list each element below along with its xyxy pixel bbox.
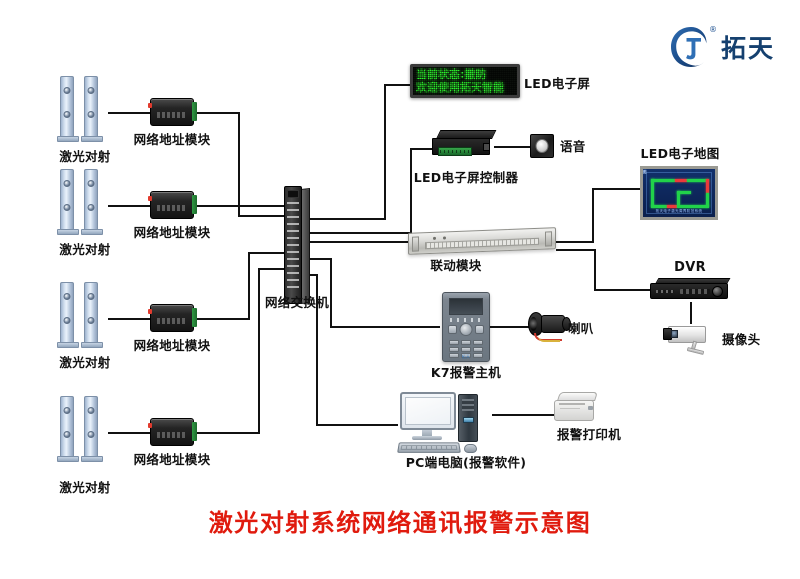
wire-laser1-module — [108, 112, 150, 114]
pc-mouse[interactable] — [464, 444, 477, 453]
dvr-indicator-leds — [656, 290, 674, 293]
laser-lens-icon — [64, 317, 71, 324]
power-led-icon — [148, 309, 152, 314]
laser-base — [81, 229, 103, 235]
network-switch — [284, 186, 310, 304]
map-segment — [677, 191, 691, 194]
wire-bus1-vertical — [238, 112, 240, 216]
network-address-module-3-label: 网络地址模块 — [134, 339, 211, 353]
laser-detector-3-label: 激光对射 — [59, 356, 110, 370]
alarm-host-leds — [450, 318, 482, 322]
laser-post-right — [84, 76, 98, 138]
registered-mark: ® — [709, 25, 717, 34]
wire-switch-ledctrl-v — [410, 148, 412, 234]
alarm-host-softkey-left[interactable] — [448, 325, 457, 334]
camera-label: 摄像头 — [722, 333, 760, 347]
alarm-host-label: K7报警主机 — [431, 366, 501, 380]
wire-dvr-camera — [690, 302, 692, 324]
laser-base — [81, 136, 103, 142]
map-segment — [651, 179, 654, 207]
rack-ear-left — [412, 236, 419, 251]
alarm-host-device: 拓天 — [442, 292, 490, 362]
camera-mount-base — [687, 347, 704, 355]
wire-ledctrl-voice — [494, 146, 532, 148]
wire-pc-printer — [492, 414, 554, 416]
keypad-key[interactable] — [461, 347, 471, 352]
laser-post-left — [60, 282, 74, 344]
rack-ear-right — [545, 231, 552, 246]
wire-dvr-v — [594, 249, 596, 291]
power-led-icon — [148, 423, 152, 428]
alarm-printer-label: 报警打印机 — [557, 428, 621, 442]
led-display-panel: 当前状态:撤防 欢迎使用拓天智能 — [410, 64, 520, 98]
laser-lens-icon — [64, 431, 71, 438]
wire-bus4-vertical — [258, 268, 260, 432]
diagram-title: 激光对射系统网络通讯报警示意图 — [209, 503, 592, 538]
wire-bus3-vertical — [248, 252, 250, 318]
pc-front-panel — [463, 417, 474, 423]
dvr-buttons — [680, 289, 710, 294]
dvr-jog-dial — [712, 286, 723, 297]
laser-detector-2 — [58, 169, 112, 241]
wire-linkage-right2 — [556, 249, 596, 251]
led-display-label: LED电子屏 — [524, 77, 590, 91]
module-print — [157, 318, 186, 324]
brand-logo: ® 拓天 — [668, 24, 775, 70]
led-display-line-2: 欢迎使用拓天智能 — [416, 81, 514, 94]
network-switch-label: 网络交换机 — [265, 296, 329, 310]
brand-emblem-icon: ® — [668, 24, 714, 70]
wire-ledmap-h — [592, 188, 640, 190]
dvr-label: DVR — [674, 261, 706, 276]
wire-switch-ledscreen-h2 — [384, 84, 412, 86]
power-led-icon — [148, 103, 152, 108]
laser-base — [81, 342, 103, 348]
laser-lens-icon — [88, 293, 95, 300]
network-address-module-4 — [150, 418, 194, 446]
alarm-printer — [554, 392, 598, 424]
keypad-key[interactable] — [473, 347, 483, 352]
pc-monitor — [400, 392, 456, 430]
wire-switch-ledctrl-h2 — [410, 148, 434, 150]
pc-monitor-base — [412, 436, 442, 440]
wire-switch-k7-h2 — [330, 326, 440, 328]
printer-seam — [560, 408, 580, 409]
map-segment — [651, 179, 675, 182]
map-segment-alarm — [706, 179, 709, 193]
printer-feed-button[interactable] — [588, 406, 593, 410]
laser-lens-icon — [88, 317, 95, 324]
keypad-key[interactable] — [461, 340, 471, 345]
wire-dvr-h — [594, 289, 650, 291]
led-controller — [432, 130, 494, 160]
controller-terminal-block — [438, 147, 472, 156]
linkage-module-label: 联动模块 — [430, 259, 481, 273]
horn-label: 喇叭 — [568, 322, 594, 336]
keypad-key[interactable] — [473, 340, 483, 345]
led-map-panel: 地图 拓天电子激光周界防范系统 — [640, 166, 718, 220]
camera-device — [662, 322, 720, 356]
voice-module-label: 语音 — [560, 140, 586, 154]
status-dot — [443, 236, 446, 239]
map-segment — [651, 205, 667, 208]
laser-detector-2-label: 激光对射 — [59, 243, 110, 257]
laser-detector-1 — [58, 76, 112, 148]
alarm-host-nav-area — [443, 323, 489, 338]
pc-screen[interactable] — [405, 397, 451, 425]
wire-module1-bus — [194, 112, 240, 114]
network-address-module-2 — [150, 191, 194, 219]
laser-base — [57, 342, 79, 348]
power-led-icon — [148, 196, 152, 201]
laser-lens-icon — [64, 293, 71, 300]
wire-module3-bus — [194, 318, 250, 320]
laser-detector-4 — [58, 396, 112, 468]
laser-base — [57, 136, 79, 142]
module-print — [157, 205, 186, 211]
wire-ledmap-v — [592, 188, 594, 243]
wire-switch-linkage — [306, 241, 408, 243]
pc-drive-bays — [462, 399, 474, 411]
network-address-module-3 — [150, 304, 194, 332]
laser-lens-icon — [88, 431, 95, 438]
alarm-host-screen — [449, 298, 483, 315]
laser-lens-icon — [64, 407, 71, 414]
switch-uplink-port — [287, 190, 299, 198]
laser-detector-3 — [58, 282, 112, 354]
led-controller-label: LED电子屏控制器 — [414, 171, 519, 185]
laser-post-left — [60, 76, 74, 138]
wire-laser4-module — [108, 432, 150, 434]
pc-label: PC端电脑(报警软件) — [406, 456, 527, 470]
wire-switch-ledscreen-h1 — [306, 218, 386, 220]
laser-post-left — [60, 396, 74, 458]
dvr-device — [650, 278, 730, 302]
laser-base — [57, 229, 79, 235]
switch-ports — [287, 202, 299, 290]
pc-workstation — [398, 392, 494, 454]
wire-switch-pc-h2 — [316, 424, 398, 426]
network-address-module-2-label: 网络地址模块 — [134, 226, 211, 240]
module-print — [157, 432, 186, 438]
laser-base — [81, 456, 103, 462]
wire-k7-horn — [490, 326, 532, 328]
wire-linkage-right1 — [556, 241, 594, 243]
laser-post-left — [60, 169, 74, 231]
pc-tower — [458, 394, 478, 442]
linkage-terminal-strip — [425, 238, 539, 249]
laser-detector-1-label: 激光对射 — [59, 150, 110, 164]
alarm-host-navpad[interactable] — [460, 323, 473, 336]
laser-lens-icon — [88, 180, 95, 187]
alarm-host-brandmark: 拓天 — [443, 354, 489, 360]
laser-lens-icon — [88, 87, 95, 94]
pc-keyboard[interactable] — [397, 442, 461, 452]
wire-switch-k7-v — [330, 258, 332, 326]
laser-post-right — [84, 282, 98, 344]
laser-lens-icon — [88, 204, 95, 211]
wire-switch-ledctrl-h1 — [306, 232, 412, 234]
module-print — [157, 112, 186, 118]
laser-lens-icon — [64, 111, 71, 118]
map-title: 地图 — [640, 170, 679, 175]
voice-module — [530, 134, 554, 158]
camera-lens-icon — [671, 330, 678, 338]
laser-base — [57, 456, 79, 462]
wire-module2-switch — [194, 205, 287, 207]
brand-name: 拓天 — [721, 29, 775, 65]
laser-lens-icon — [88, 111, 95, 118]
status-dot — [433, 237, 436, 240]
laser-lens-icon — [64, 204, 71, 211]
laser-lens-icon — [64, 180, 71, 187]
wire-switch-ledscreen-v — [384, 84, 386, 220]
laser-post-right — [84, 396, 98, 458]
horn-mouth — [530, 317, 537, 331]
wire-bus1-switch — [238, 215, 288, 217]
linkage-module — [408, 227, 556, 255]
network-address-module-4-label: 网络地址模块 — [134, 453, 211, 467]
terminal-block — [192, 422, 197, 441]
laser-detector-4-label: 激光对射 — [59, 481, 110, 495]
wire-bus3-switch — [248, 252, 288, 254]
wire-laser3-module — [108, 318, 150, 320]
speaker-cone-icon — [536, 139, 549, 153]
map-segment — [677, 205, 709, 208]
wire-module4-bus — [194, 432, 260, 434]
printer-paper-slot — [559, 403, 585, 405]
diagram-canvas: ® 拓天 — [0, 0, 800, 579]
controller-port — [483, 143, 490, 151]
led-display-line-1: 当前状态:撤防 — [416, 68, 514, 81]
switch-side — [301, 188, 310, 304]
horn-wire-yellow — [538, 335, 560, 342]
map-segment-alarm — [675, 179, 687, 182]
terminal-block — [192, 102, 197, 121]
network-address-module-1-label: 网络地址模块 — [134, 133, 211, 147]
alarm-host-softkey-right[interactable] — [475, 325, 484, 334]
terminal-block — [192, 308, 197, 327]
keypad-key[interactable] — [449, 340, 459, 345]
laser-lens-icon — [64, 87, 71, 94]
wire-laser2-module — [108, 205, 150, 207]
laser-lens-icon — [88, 407, 95, 414]
keypad-key[interactable] — [449, 347, 459, 352]
map-segment-alarm — [667, 205, 677, 208]
laser-post-right — [84, 169, 98, 231]
led-map-label: LED电子地图 — [641, 147, 720, 161]
network-address-module-1 — [150, 98, 194, 126]
map-caption: 拓天电子激光周界防范系统 — [643, 209, 715, 214]
terminal-block — [192, 195, 197, 214]
